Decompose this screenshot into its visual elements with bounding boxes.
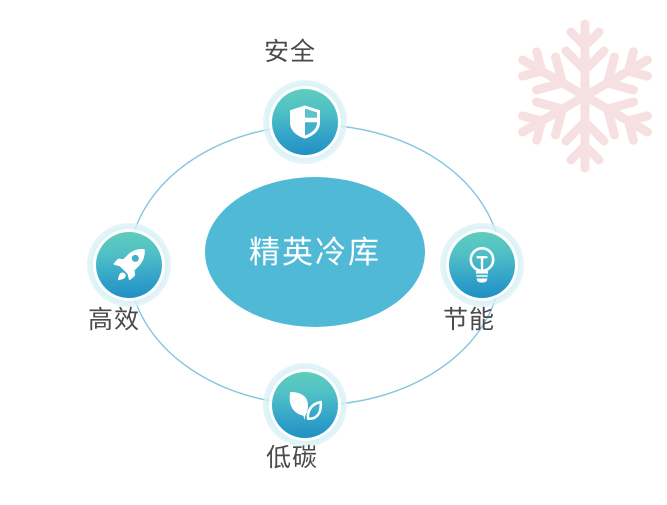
node-low-carbon[interactable] (263, 363, 347, 447)
nodes-layer: 安全 高效 (0, 0, 667, 500)
shield-icon (288, 104, 322, 140)
node-disc (449, 232, 515, 298)
node-safety[interactable] (263, 80, 347, 164)
lightbulb-icon (467, 246, 497, 284)
node-label-safety: 安全 (264, 40, 316, 65)
node-disc (96, 232, 162, 298)
node-label-low-carbon: 低碳 (266, 446, 318, 471)
feature-diagram: 精英冷库 安全 (0, 0, 667, 500)
rocket-icon (111, 247, 147, 283)
node-label-energy-saving: 节能 (443, 308, 495, 333)
node-efficiency[interactable] (87, 223, 171, 307)
node-energy-saving[interactable] (440, 223, 524, 307)
node-disc (272, 372, 338, 438)
leaf-icon (286, 387, 324, 423)
node-label-efficiency: 高效 (88, 308, 140, 333)
node-disc (272, 89, 338, 155)
